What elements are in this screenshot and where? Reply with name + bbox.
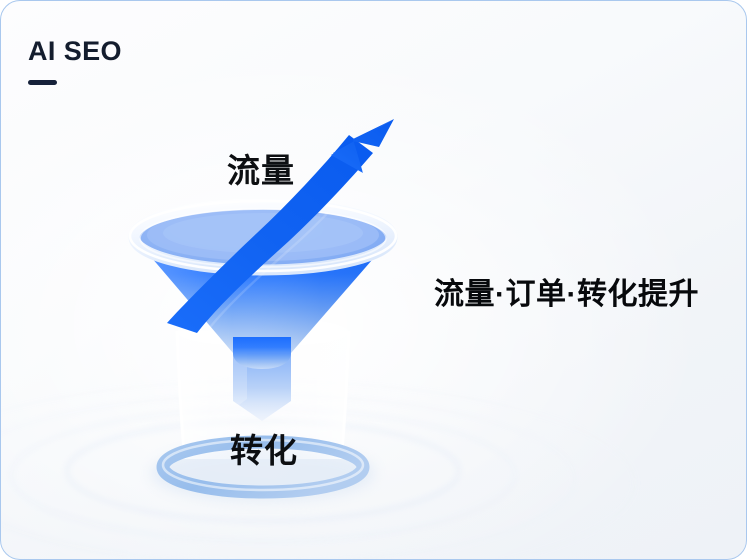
page-title: AI SEO [28, 37, 288, 67]
funnel-rim [130, 201, 396, 271]
header: AI SEO [28, 37, 288, 85]
funnel-stem [233, 319, 291, 421]
funnel-bowl [134, 204, 392, 270]
slide-canvas: AI SEO [0, 0, 747, 560]
title-underline-accent [28, 80, 57, 85]
funnel-cone [134, 237, 392, 369]
funnel-label-conversion: 转化 [230, 434, 298, 467]
headline-text: 流量·订单·转化提升 [434, 276, 734, 314]
ripple-rings [1, 381, 635, 560]
funnel-label-traffic: 流量 [227, 154, 295, 187]
